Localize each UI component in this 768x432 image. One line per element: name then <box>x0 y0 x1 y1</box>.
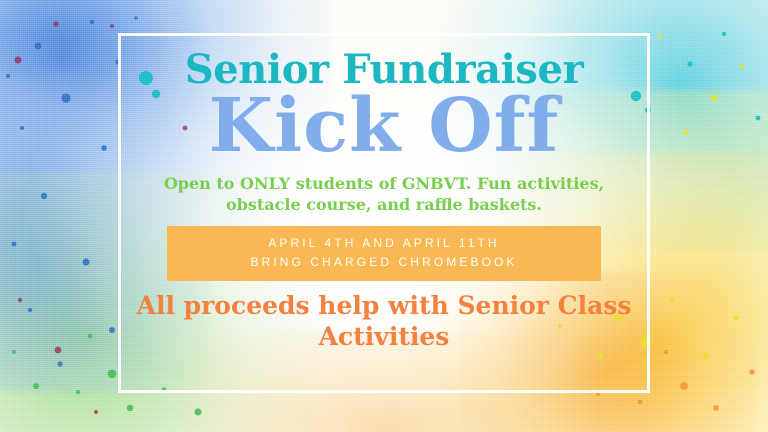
proceeds-note: All proceeds help with Senior Class Acti… <box>134 290 634 353</box>
event-description: Open to ONLY students of GNBVT. Fun acti… <box>134 173 634 215</box>
date-banner-line1: April 4th and April 11th <box>167 234 601 253</box>
poster-canvas: Senior Fundraiser Kick Off Open to ONLY … <box>0 0 768 432</box>
poster-content: Senior Fundraiser Kick Off Open to ONLY … <box>118 33 650 393</box>
date-banner: April 4th and April 11th Bring Charged C… <box>167 226 601 281</box>
date-banner-line2: Bring Charged Chromebook <box>167 253 601 272</box>
page-title-line2: Kick Off <box>209 89 560 163</box>
